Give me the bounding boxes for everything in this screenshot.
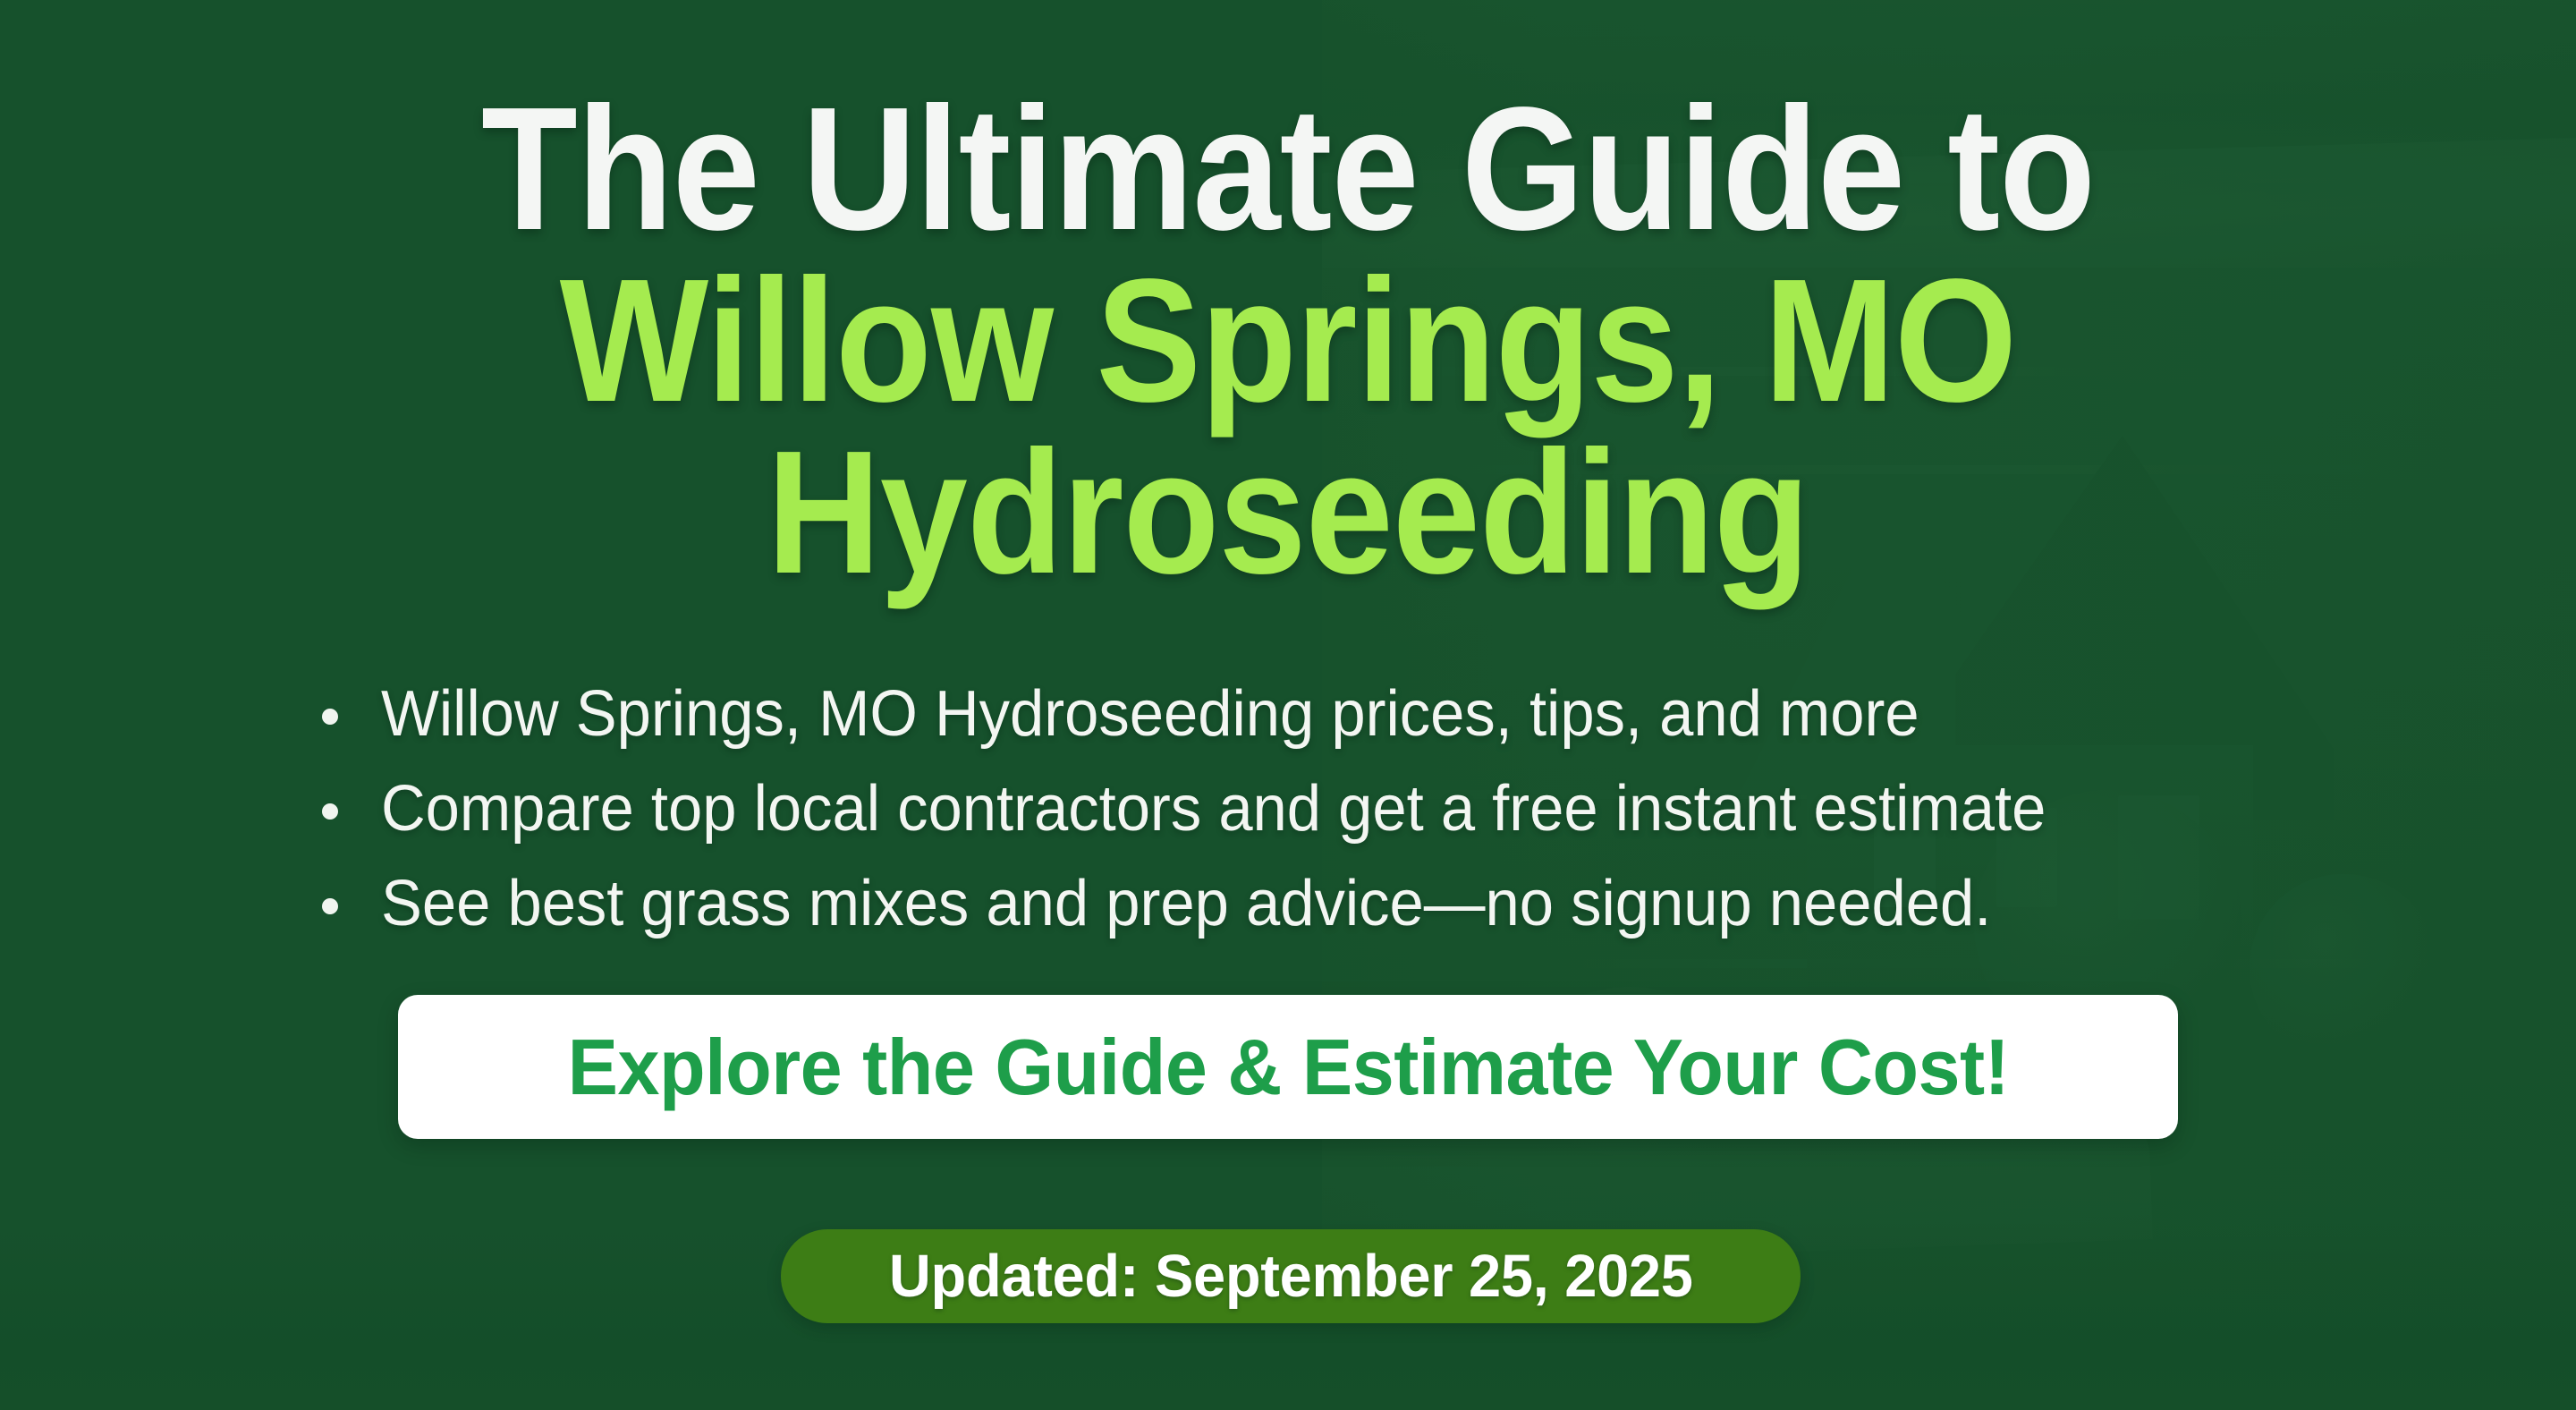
list-item: See best grass mixes and prep advice—no …	[315, 856, 2124, 951]
explore-guide-button[interactable]: Explore the Guide & Estimate Your Cost!	[398, 995, 2178, 1139]
hero-banner: The Ultimate Guide to Willow Springs, MO…	[0, 0, 2576, 1410]
headline-line-3: Hydroseeding	[129, 427, 2447, 599]
list-item-label: Compare top local contractors and get a …	[381, 761, 2046, 856]
list-item-label: See best grass mixes and prep advice—no …	[381, 856, 1991, 951]
list-item: Willow Springs, MO Hydroseeding prices, …	[315, 667, 2124, 761]
headline-line-2: Willow Springs, MO	[129, 255, 2447, 427]
banner-content: The Ultimate Guide to Willow Springs, MO…	[0, 0, 2576, 1410]
list-item-label: Willow Springs, MO Hydroseeding prices, …	[381, 667, 1919, 761]
last-updated-label: Updated: September 25, 2025	[889, 1242, 1693, 1311]
explore-guide-button-label: Explore the Guide & Estimate Your Cost!	[567, 1022, 2009, 1113]
headline-line-1: The Ultimate Guide to	[129, 83, 2447, 255]
bullet-dot-icon	[322, 709, 338, 725]
benefit-list: Willow Springs, MO Hydroseeding prices, …	[315, 667, 2124, 951]
bullet-dot-icon	[322, 803, 338, 820]
page-title: The Ultimate Guide to Willow Springs, MO…	[0, 83, 2576, 599]
list-item: Compare top local contractors and get a …	[315, 761, 2124, 856]
bullet-dot-icon	[322, 898, 338, 914]
status-badge: Updated: September 25, 2025	[781, 1229, 1801, 1323]
